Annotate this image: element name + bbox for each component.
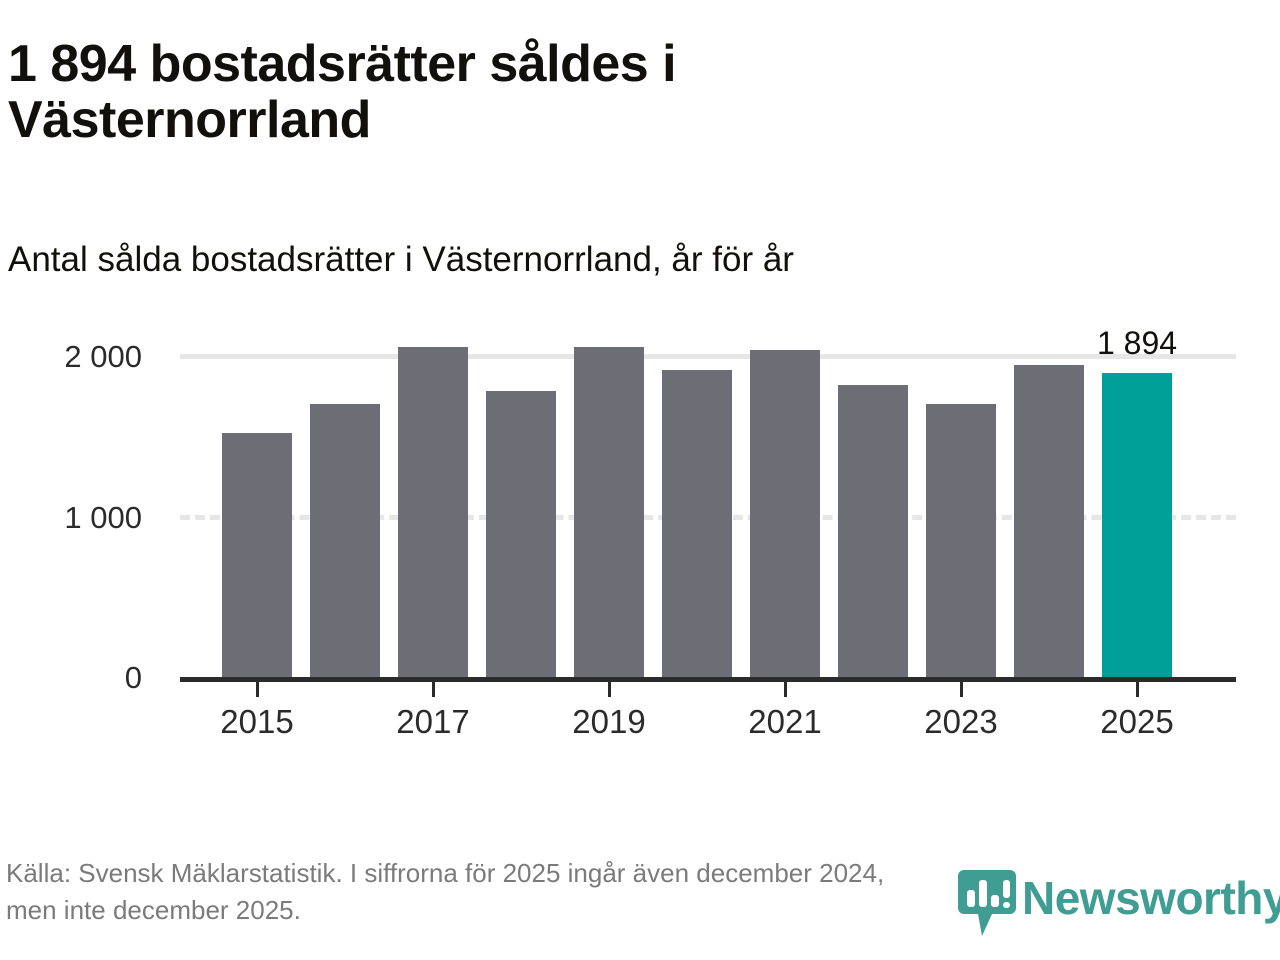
- bar-rect: [1102, 373, 1172, 677]
- bar-2017[interactable]: [398, 347, 468, 677]
- newsworthy-wordmark: Newsworthy: [1022, 870, 1280, 928]
- bar-rect: [1014, 365, 1084, 677]
- newsworthy-logo: Newsworthy: [958, 868, 1274, 940]
- bar-2020[interactable]: [662, 370, 732, 677]
- page-title: 1 894 bostadsrätter såldes i Västernorrl…: [8, 36, 1008, 148]
- x-tick-label-2015: 2015: [177, 705, 337, 738]
- x-tick-mark: [960, 681, 963, 697]
- x-tick-label-2025: 2025: [1057, 705, 1217, 738]
- x-tick-label-2021: 2021: [705, 705, 865, 738]
- bar-rect: [222, 433, 292, 677]
- bar-rect: [398, 347, 468, 677]
- x-tick-label-2017: 2017: [353, 705, 513, 738]
- x-tick-label-2019: 2019: [529, 705, 689, 738]
- x-tick-mark: [256, 681, 259, 697]
- bar-2018[interactable]: [486, 391, 556, 677]
- bar-2016[interactable]: [310, 404, 380, 677]
- bar-rect: [838, 385, 908, 677]
- x-tick-mark: [1136, 681, 1139, 697]
- bar-2019[interactable]: [574, 347, 644, 677]
- bar-2024[interactable]: [1014, 365, 1084, 677]
- y-tick-label: 1 000: [22, 502, 142, 533]
- bar-2022[interactable]: [838, 385, 908, 677]
- y-tick-label: 2 000: [22, 341, 142, 372]
- bar-2021[interactable]: [750, 350, 820, 677]
- bar-rect: [750, 350, 820, 677]
- bar-chart: 1 894 01 0002 000 2015201720192021202320…: [0, 340, 1280, 760]
- bar-2023[interactable]: [926, 404, 996, 677]
- bar-rect: [310, 404, 380, 677]
- bar-2015[interactable]: [222, 433, 292, 677]
- bar-rect: [574, 347, 644, 677]
- y-tick-label: 0: [22, 662, 142, 693]
- x-axis-line: [180, 677, 1236, 682]
- x-tick-mark: [432, 681, 435, 697]
- bar-2025[interactable]: 1 894: [1102, 373, 1172, 677]
- bar-value-label: 1 894: [1062, 327, 1212, 359]
- bar-rect: [486, 391, 556, 677]
- x-tick-mark: [608, 681, 611, 697]
- chart-subtitle: Antal sålda bostadsrätter i Västernorrla…: [8, 240, 1188, 280]
- newsworthy-bars-bubble-icon: [958, 870, 1016, 936]
- x-tick-label-2023: 2023: [881, 705, 1041, 738]
- x-tick-mark: [784, 681, 787, 697]
- bar-rect: [926, 404, 996, 677]
- bar-rect: [662, 370, 732, 677]
- bar-series: 1 894: [180, 340, 1236, 700]
- chart-page: 1 894 bostadsrätter såldes i Västernorrl…: [0, 0, 1280, 960]
- plot-area: 1 894: [180, 340, 1236, 700]
